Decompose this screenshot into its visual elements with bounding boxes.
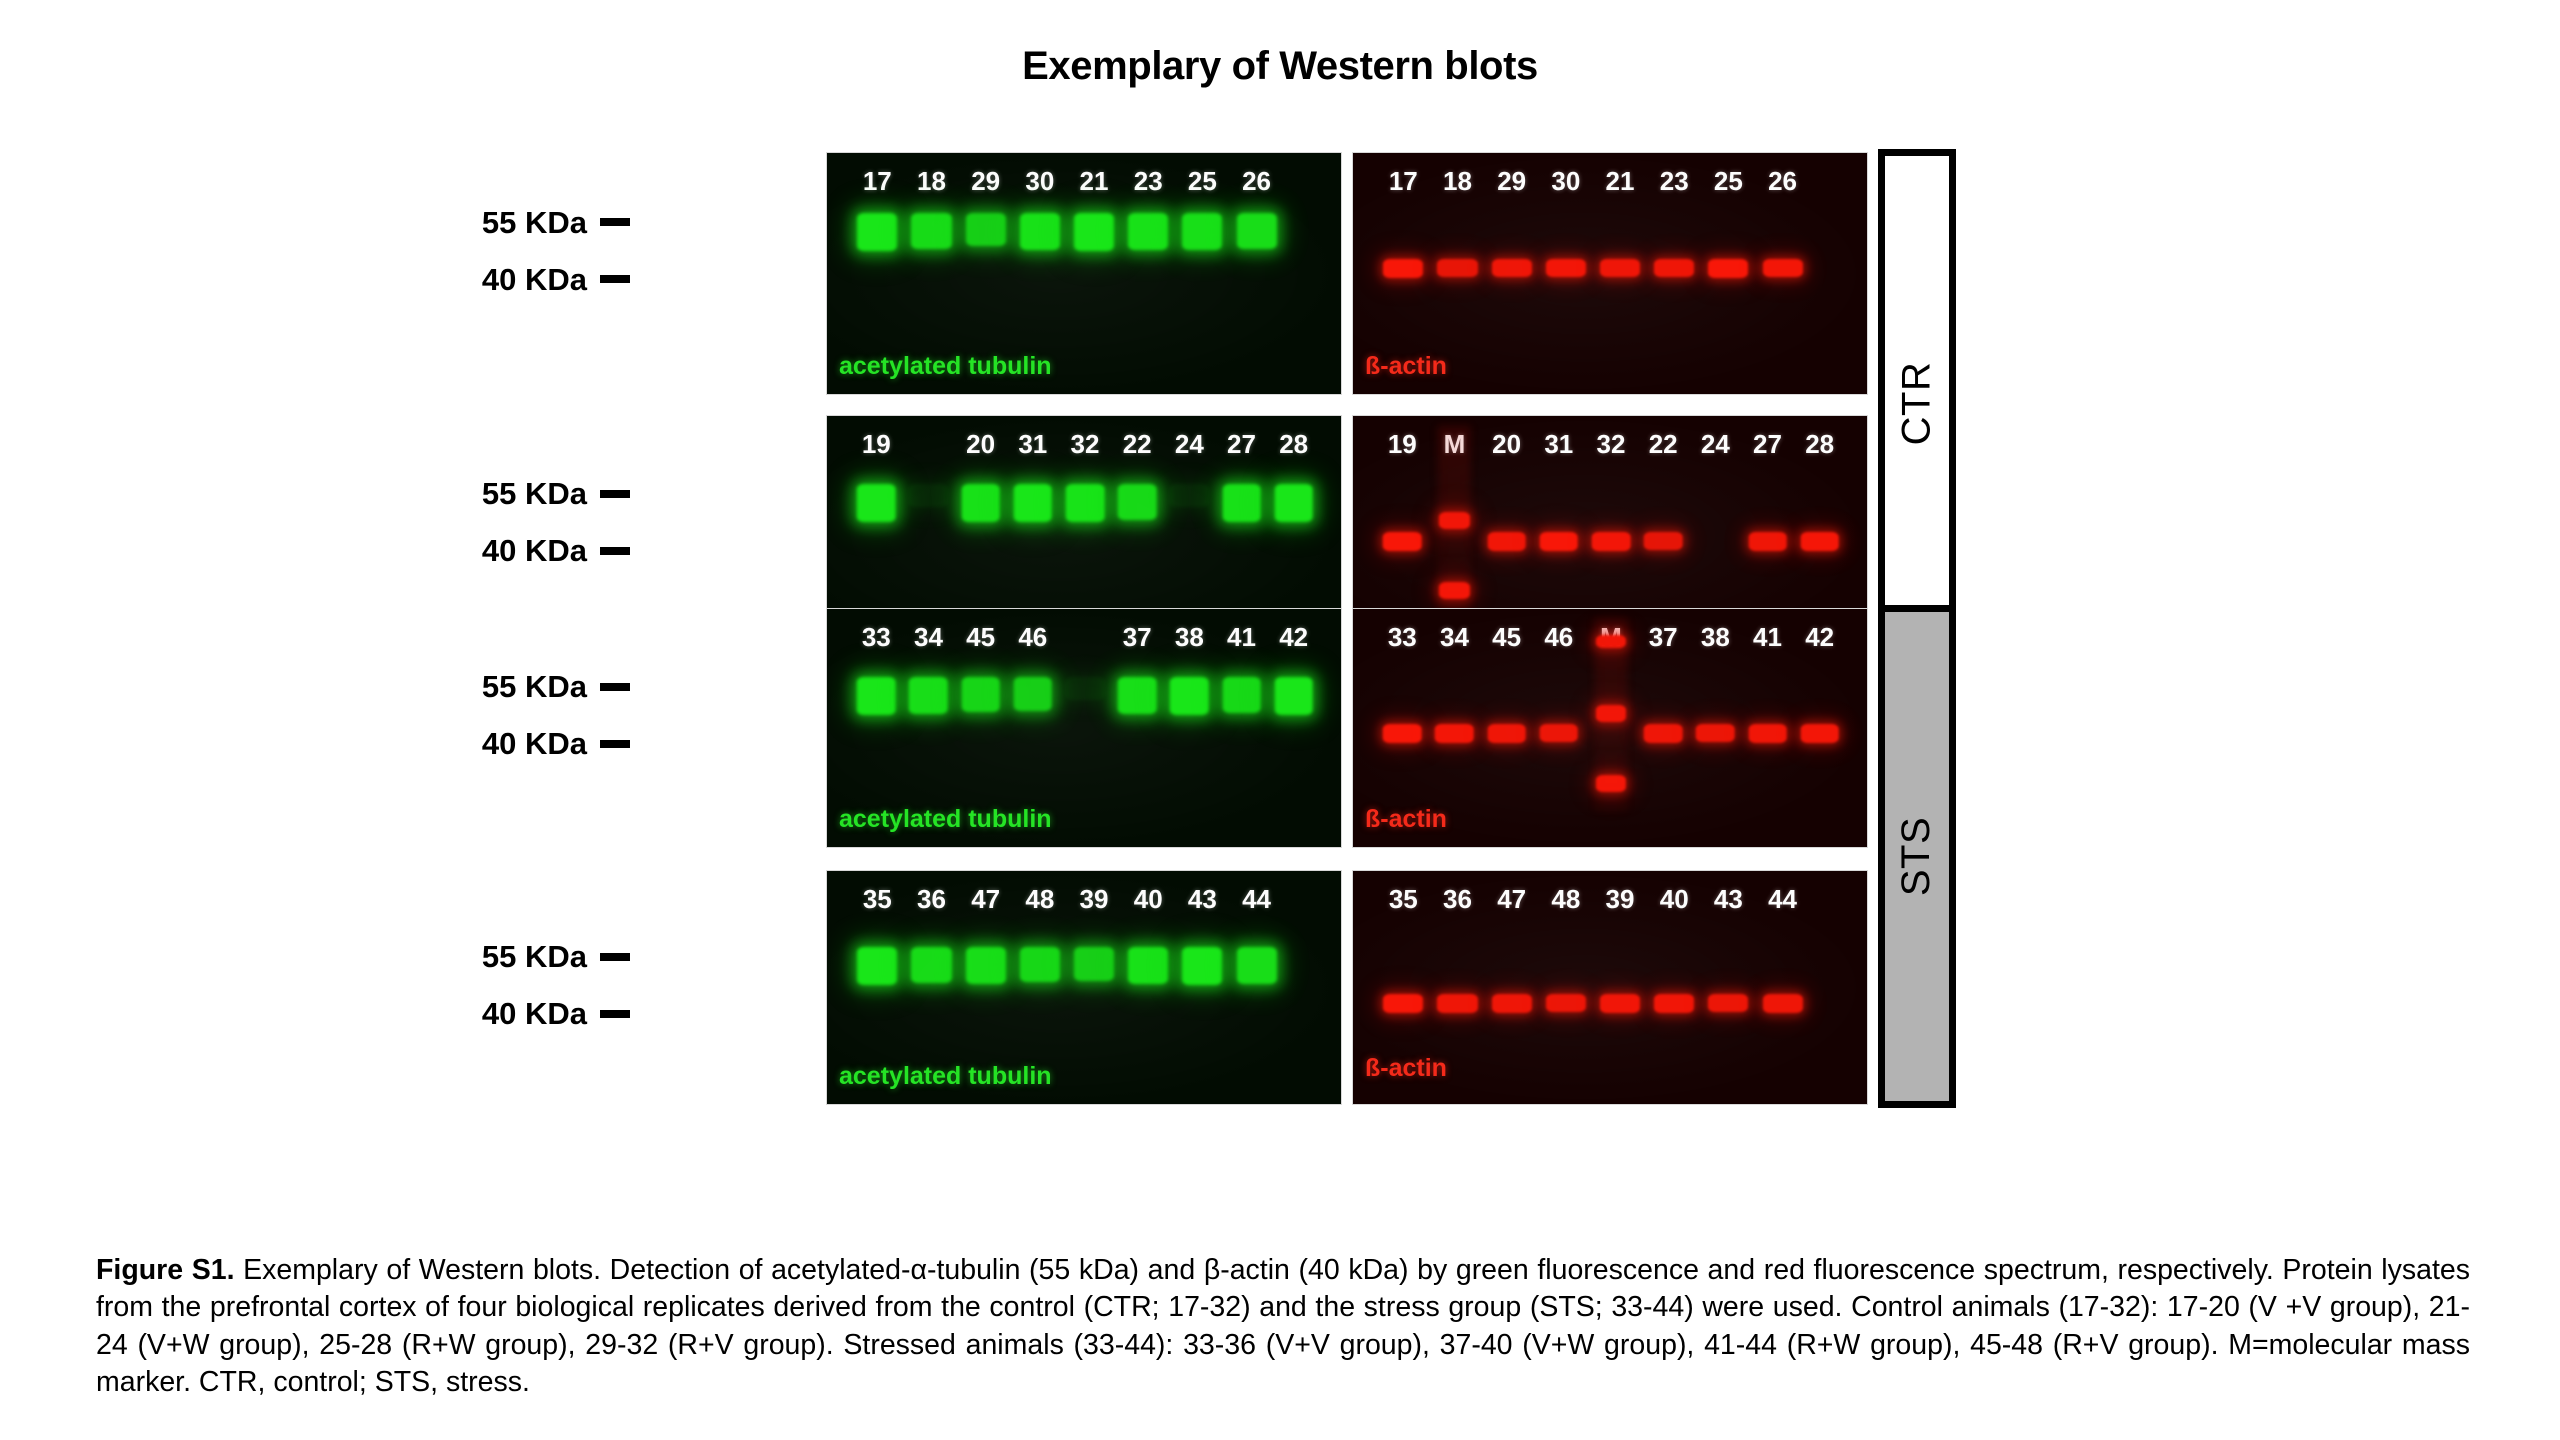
lane-label-row3-green-38: 38 [1175,622,1204,653]
band-row4-red-lane36 [1437,994,1477,1013]
lane-label-row4-red-43: 43 [1714,884,1743,915]
blot-panel-row3-red: 33344546M37384142ß-actin [1352,608,1868,848]
lane-label-row1-red-21: 21 [1606,166,1635,197]
lane-label-row1-green-30: 30 [1025,166,1054,197]
marker-lane-smear [1595,619,1628,811]
mw-label-40-text: 40 KDa [482,535,587,566]
band-row1-red-lane23 [1654,259,1694,278]
band-row3-red-lane37 [1644,724,1683,743]
lane-label-row3-green-46: 46 [1018,622,1047,653]
band-row1-green-lane25 [1182,213,1222,250]
lane-label-row4-red-35: 35 [1389,884,1418,915]
band-row3-red-lane33 [1383,724,1422,743]
band-row2-red-lane28 [1800,532,1839,551]
blot-panel-row1-green: 1718293021232526acetylated tubulin [826,152,1342,395]
lane-label-row3-red-33: 33 [1388,622,1417,653]
band-row4-red-lane35 [1383,994,1423,1013]
lane-label-row1-green-26: 26 [1242,166,1271,197]
lane-label-row4-red-44: 44 [1768,884,1797,915]
band-row2-green-lane27 [1222,484,1261,521]
band-row3-red-lane45 [1487,724,1526,743]
lane-label-row1-green-23: 23 [1134,166,1163,197]
band-row2-green-lane20 [961,484,1000,521]
caption-text: Exemplary of Western blots. Detection of… [96,1254,2470,1398]
lane-label-row4-green-40: 40 [1134,884,1163,915]
mw-label-55: 55 KDa [450,671,630,702]
lane-label-row4-green-44: 44 [1242,884,1271,915]
band-row1-green-lane26 [1237,213,1277,249]
figure-panels: 55 KDa40 KDa1718293021232526acetylated t… [0,152,2560,1232]
figure-page: Exemplary of Western blots 55 KDa40 KDa1… [0,0,2560,1440]
lane-label-row2-green-28: 28 [1279,429,1308,460]
band-row2-red-lane32 [1592,532,1631,551]
lane-label-row4-red-47: 47 [1497,884,1526,915]
lane-label-row4-green-39: 39 [1080,884,1109,915]
band-row2-green-lane28 [1274,484,1313,522]
group-box-ctr: CTR [1878,149,1956,658]
band-row4-green-lane36 [911,947,951,983]
lane-label-row2-red-28: 28 [1805,429,1834,460]
lane-label-row3-red-42: 42 [1805,622,1834,653]
lane-label-row1-red-17: 17 [1389,166,1418,197]
lane-label-row2-green-24: 24 [1175,429,1204,460]
marker-lane-smear [1438,426,1471,618]
lane-label-row3-green-33: 33 [862,622,891,653]
band-row2-red-lane27 [1748,532,1787,551]
band-row1-green-lane23 [1128,213,1168,250]
band-row2-red-lane22 [1644,532,1683,550]
band-row4-red-lane39 [1600,994,1640,1013]
page-title: Exemplary of Western blots [0,44,2560,89]
lane-label-row4-green-43: 43 [1188,884,1217,915]
mw-label-55-text: 55 KDa [482,478,587,509]
band-row4-green-lane48 [1020,947,1060,982]
band-row1-green-lane18 [911,213,951,249]
lane-label-row4-green-48: 48 [1025,884,1054,915]
band-row3-green-lane33 [857,677,896,715]
lane-label-row2-red-19: 19 [1388,429,1417,460]
lane-label-row4-green-35: 35 [863,884,892,915]
mw-label-40: 40 KDa [450,998,630,1029]
band-row1-red-lane30 [1546,259,1586,278]
band-row2-green-lane19 [857,484,896,522]
band-row3-red-lane38 [1696,724,1735,742]
band-row4-red-lane44 [1763,994,1803,1013]
blot-panel-row1-red: 1718293021232526ß-actin [1352,152,1868,395]
band-row2-red-lane19 [1383,532,1422,551]
mw-label-40-text: 40 KDa [482,264,587,295]
band-row1-red-lane21 [1600,259,1640,278]
band-row1-green-lane17 [857,213,897,251]
lane-label-row4-green-47: 47 [971,884,1000,915]
lane-label-row1-red-30: 30 [1551,166,1580,197]
blot-caption-row4-green: acetylated tubulin [839,1062,1052,1091]
band-row1-green-lane29 [966,213,1006,247]
lane-label-row4-red-48: 48 [1551,884,1580,915]
lane-label-row3-green-41: 41 [1227,622,1256,653]
lane-label-row2-green-19: 19 [862,429,891,460]
blot-caption-row1-green: acetylated tubulin [839,352,1052,381]
lane-label-row2-green-31: 31 [1018,429,1047,460]
mw-label-40: 40 KDa [450,728,630,759]
band-row3-green-lane45 [961,677,1000,711]
lane-label-row3-green-34: 34 [914,622,943,653]
lane-label-row3-red-37: 37 [1649,622,1678,653]
lane-label-row3-red-45: 45 [1492,622,1521,653]
band-row4-green-lane43 [1182,947,1222,985]
lane-label-row1-green-18: 18 [917,166,946,197]
band-row2-green-lane24 [1170,484,1209,507]
band-row1-green-lane21 [1074,213,1114,251]
band-row2-green-lane22 [1118,484,1157,520]
band-row2-green-lane31 [1014,484,1053,522]
mw-label-40: 40 KDa [450,264,630,295]
blot-caption-row1-red: ß-actin [1365,352,1447,381]
band-row2-red-lane20 [1487,532,1526,551]
band-row3-green-lane38 [1170,677,1209,715]
blot-panel-row4-red: 3536474839404344ß-actin [1352,870,1868,1105]
band-row4-green-lane39 [1074,947,1114,981]
figure-caption: Figure S1. Exemplary of Western blots. D… [96,1252,2470,1402]
lane-label-row1-red-29: 29 [1497,166,1526,197]
band-row2-red-lane31 [1540,532,1579,551]
lane-label-row2-red-27: 27 [1753,429,1782,460]
band-row4-red-lane48 [1546,994,1586,1012]
lane-label-row1-green-17: 17 [863,166,892,197]
band-row3-green-lane42 [1274,677,1313,715]
mw-label-55: 55 KDa [450,478,630,509]
lane-label-row4-red-40: 40 [1660,884,1689,915]
band-row3-green-lane37 [1118,677,1157,714]
band-row4-red-lane47 [1492,994,1532,1013]
lane-label-row2-green-32: 32 [1071,429,1100,460]
lane-label-row3-red-46: 46 [1544,622,1573,653]
lane-label-row1-red-18: 18 [1443,166,1472,197]
band-row3-red-lane46 [1540,724,1579,742]
band-row3-green-lane34 [909,677,948,713]
mw-tick-icon [600,547,630,555]
mw-tick-icon [600,490,630,498]
group-label-sts: STS [1895,817,1940,896]
lane-label-row3-red-34: 34 [1440,622,1469,653]
lane-label-row2-red-32: 32 [1597,429,1626,460]
lane-label-row2-green-22: 22 [1123,429,1152,460]
mw-label-55-text: 55 KDa [482,671,587,702]
band-row1-red-lane29 [1492,259,1532,278]
band-row2-green-lane32 [1066,484,1105,522]
band-row1-red-lane25 [1708,259,1748,278]
group-box-sts: STS [1878,605,1956,1108]
mw-label-group-row1: 55 KDa40 KDa [450,207,630,295]
band-row3-green-lane46 [1014,677,1053,711]
mw-label-group-row3: 55 KDa40 KDa [450,671,630,759]
mw-label-55-text: 55 KDa [482,207,587,238]
lane-label-row3-green-42: 42 [1279,622,1308,653]
band-row4-green-lane35 [857,947,897,985]
lane-label-row2-green-20: 20 [966,429,995,460]
lane-label-row1-green-29: 29 [971,166,1000,197]
band-row4-green-lane47 [966,947,1006,983]
mw-tick-icon [600,218,630,226]
band-row3-green-lane4 [1066,677,1105,700]
mw-label-group-row2: 55 KDa40 KDa [450,478,630,566]
lane-label-row3-green-37: 37 [1123,622,1152,653]
lane-label-row2-red-24: 24 [1701,429,1730,460]
lane-label-row1-red-23: 23 [1660,166,1689,197]
blot-panel-row3-green: 3334454637384142acetylated tubulin [826,608,1342,848]
lane-label-row2-red-31: 31 [1544,429,1573,460]
lane-label-row4-red-39: 39 [1606,884,1635,915]
lane-label-row4-green-36: 36 [917,884,946,915]
mw-label-40: 40 KDa [450,535,630,566]
lane-label-row2-red-20: 20 [1492,429,1521,460]
group-label-ctr: CTR [1895,362,1940,446]
blot-panel-row4-green: 3536474839404344acetylated tubulin [826,870,1342,1105]
mw-label-group-row4: 55 KDa40 KDa [450,941,630,1029]
lane-label-row2-green-27: 27 [1227,429,1256,460]
band-row3-green-lane41 [1222,677,1261,713]
lane-label-row2-red-22: 22 [1649,429,1678,460]
band-row3-red-lane34 [1435,724,1474,743]
lane-label-row3-green-45: 45 [966,622,995,653]
blot-caption-row3-red: ß-actin [1365,805,1447,834]
caption-label: Figure S1. [96,1254,234,1286]
mw-label-40-text: 40 KDa [482,998,587,1029]
mw-tick-icon [600,953,630,961]
lane-label-row1-red-25: 25 [1714,166,1743,197]
lane-label-row1-red-26: 26 [1768,166,1797,197]
band-row3-red-lane42 [1800,724,1839,743]
mw-tick-icon [600,683,630,691]
mw-label-55: 55 KDa [450,207,630,238]
band-row1-red-lane17 [1383,259,1423,278]
band-row3-red-lane41 [1748,724,1787,743]
lane-label-row1-green-25: 25 [1188,166,1217,197]
band-row1-red-lane26 [1763,259,1803,278]
band-row4-red-lane43 [1708,994,1748,1012]
mw-label-40-text: 40 KDa [482,728,587,759]
mw-tick-icon [600,1010,630,1018]
lane-label-row3-red-41: 41 [1753,622,1782,653]
band-row4-green-lane44 [1237,947,1277,983]
blot-caption-row4-red: ß-actin [1365,1054,1447,1083]
lane-label-row3-red-38: 38 [1701,622,1730,653]
band-row4-red-lane40 [1654,994,1694,1013]
lane-label-row1-green-21: 21 [1080,166,1109,197]
mw-label-55: 55 KDa [450,941,630,972]
band-row2-green-lane1 [909,484,948,507]
band-row1-red-lane18 [1437,259,1477,277]
mw-tick-icon [600,275,630,283]
mw-label-55-text: 55 KDa [482,941,587,972]
lane-label-row4-red-36: 36 [1443,884,1472,915]
band-row4-green-lane40 [1128,947,1168,984]
band-row1-green-lane30 [1020,213,1060,250]
mw-tick-icon [600,740,630,748]
blot-caption-row3-green: acetylated tubulin [839,805,1052,834]
